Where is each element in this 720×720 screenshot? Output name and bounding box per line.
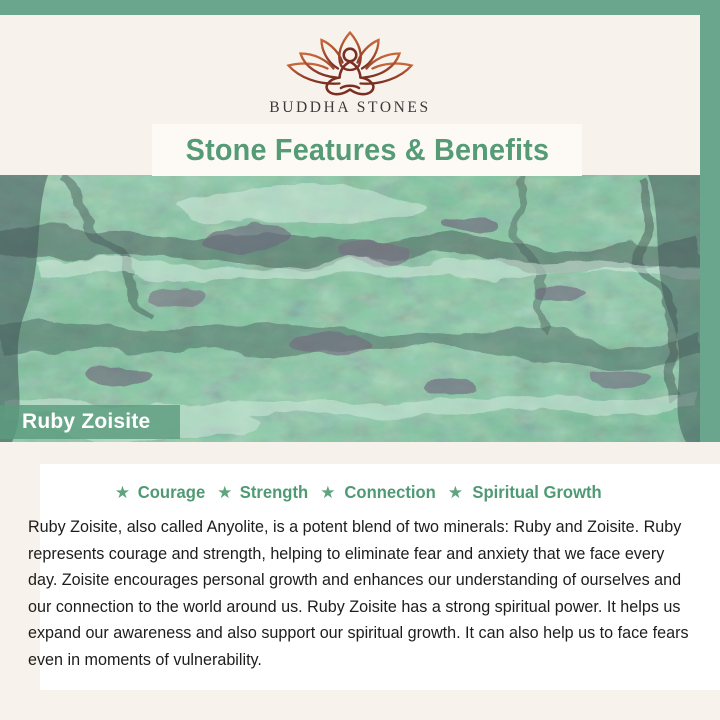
brand-name: BUDDHA STONES [269, 99, 430, 117]
star-icon: ★ [448, 484, 463, 501]
stone-name-band: Ruby Zoisite [0, 405, 180, 439]
star-icon: ★ [320, 484, 335, 501]
description-text: Ruby Zoisite, also called Anyolite, is a… [28, 514, 696, 673]
benefit-label: Strength [240, 482, 308, 503]
star-icon: ★ [217, 484, 232, 501]
benefit-item: ★ Strength [217, 482, 310, 503]
benefits-list: ★ Courage ★ Strength ★ Connection ★ Spir… [40, 482, 680, 503]
benefit-label: Courage [138, 482, 205, 503]
description-card: ★ Courage ★ Strength ★ Connection ★ Spir… [40, 442, 720, 690]
benefit-item: ★ Connection [320, 482, 438, 503]
benefit-label: Connection [344, 482, 435, 503]
benefit-label: Spiritual Growth [472, 482, 601, 503]
lotus-meditation-icon [275, 25, 425, 97]
section-title-banner: Stone Features & Benefits [152, 124, 582, 176]
stone-name: Ruby Zoisite [0, 410, 150, 434]
stone-photo [0, 175, 700, 442]
page-title: Stone Features & Benefits [185, 132, 549, 168]
brand-header: BUDDHA STONES [0, 15, 700, 125]
card-top-accent [40, 442, 720, 464]
star-icon: ★ [115, 484, 130, 501]
benefit-item: ★ Spiritual Growth [448, 482, 605, 503]
benefit-item: ★ Courage [115, 482, 207, 503]
